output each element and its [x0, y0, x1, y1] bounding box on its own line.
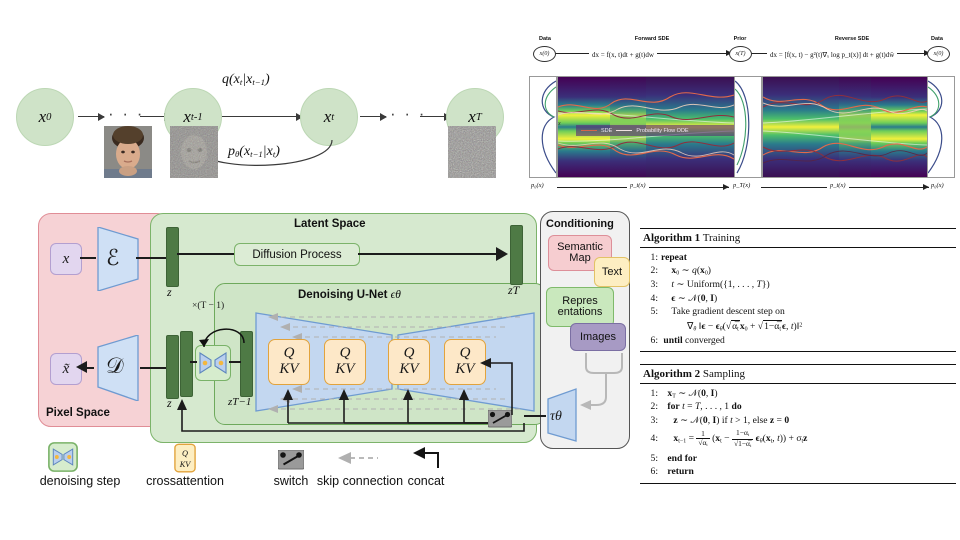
arrow-forward-q	[222, 116, 302, 117]
latent-label-z-top: z	[167, 285, 172, 300]
alg2-l5-num: 5:	[645, 452, 658, 466]
arrow-xt-to-ellipsis	[360, 116, 386, 117]
connector-denoise-to-zbar	[229, 361, 241, 363]
sde-caption-reverse: Reverse SDE	[797, 36, 907, 42]
algorithm-1-box: Algorithm 1 Training 1:repeat 2: x0 ∼ q(…	[640, 228, 956, 352]
alg2-line-3: 3: z ∼ 𝒩(0, I) if t > 1, else z = 0	[645, 414, 953, 428]
sde-bottom-label-pt-right: p_t(x)	[827, 182, 849, 189]
sde-legend-swatch-sde	[581, 130, 597, 132]
latent-label-zT-top: zT	[508, 283, 519, 298]
alg1-line-5: 5: Take gradient descent step on	[645, 305, 953, 319]
fw-q: q(	[222, 72, 234, 87]
sde-caption-data-left: Data	[529, 36, 561, 42]
sde-marginal-right	[927, 76, 955, 178]
latent-bar-z-top	[166, 227, 179, 287]
algorithm-2-body: 1: xT ∼ 𝒩(0, I) 2: for t = T, . . . , 1 …	[640, 384, 956, 483]
sde-legend-swatch-ode	[616, 130, 632, 132]
score-sde-figure: Data Forward SDE Prior Reverse SDE Data …	[527, 32, 955, 200]
latent-space-title: Latent Space	[294, 218, 366, 230]
unet-output-feedback-line	[172, 395, 532, 439]
thumbnail-noisy-face	[170, 126, 218, 178]
chip-text-label: Text	[602, 267, 622, 278]
unet-title-symbol: ϵθ	[391, 289, 401, 301]
alg2-line-4: 4: xt−1 = 1√αt (xt − 1−αt√1−α̅t ϵθ(xt, t…	[645, 429, 953, 450]
alg1-l7-num: 6:	[645, 334, 658, 348]
alg2-line-2: 2: for t = T, . . . , 1 do	[645, 400, 953, 414]
algorithm-2-name: Sampling	[703, 368, 745, 380]
chip-images-label: Images	[580, 332, 616, 343]
node-xt-sub: t	[331, 112, 334, 123]
unet-title-text: Denoising U-Net	[298, 289, 387, 301]
alg1-l4-num: 4:	[645, 292, 658, 306]
ldm-legend: denoising step Q KV crossattention switc…	[30, 442, 450, 500]
svg-text:KV: KV	[179, 460, 192, 469]
loop-count-label: ×(T − 1)	[192, 301, 224, 311]
loop-arrow	[192, 313, 258, 351]
latent-bar-z-bottom	[166, 335, 179, 399]
alg1-l5-text: Take gradient descent step on	[663, 306, 784, 317]
sde-caption-forward: Forward SDE	[597, 36, 707, 42]
sde-caption-data-right: Data	[921, 36, 953, 42]
node-x0: x0	[16, 88, 74, 146]
output-xtilde-label: x̃	[63, 361, 70, 378]
legend-icon-denoising-step	[48, 442, 78, 477]
ellipsis-right: · · ·	[390, 104, 426, 124]
domain-encoder-symbol: τθ	[550, 409, 562, 425]
alg2-l3-num: 3:	[645, 414, 658, 428]
input-x-label: x	[63, 251, 70, 268]
sde-marginal-prior	[734, 76, 762, 178]
chip-representations-label: Repres entations	[547, 296, 613, 318]
sde-state-xT-prior: x(T)	[729, 46, 752, 62]
sde-caption-prior: Prior	[722, 36, 758, 42]
rv-tprev: t−1	[250, 149, 263, 159]
ellipsis-left: · · ·	[108, 104, 144, 124]
zT-top-text: zT	[508, 283, 519, 297]
thumbnail-clean-face	[104, 126, 152, 178]
alg1-l1-num: 1:	[645, 251, 658, 265]
latent-label-z-bottom: z	[167, 396, 172, 411]
sde-forward-equation: dx = f(x, t)dt + g(t)dw	[589, 51, 657, 59]
alg2-line-6: 6: return	[645, 465, 953, 479]
node-xt-label: x	[324, 107, 332, 127]
unet-title: Denoising U-Net ϵθ	[298, 289, 401, 301]
node-xT-sub: T	[476, 112, 482, 123]
sde-legend: SDE Probability Flow ODE	[576, 125, 735, 136]
connector-x-to-encoder	[80, 257, 96, 259]
connector-zbar-to-denoise	[190, 361, 197, 363]
conditioning-branch-lines	[578, 351, 630, 419]
node-x0-sub: 0	[46, 112, 51, 123]
rv-close: )	[275, 144, 280, 159]
conditioning-chip-text: Text	[594, 257, 630, 287]
reverse-process-label: pθ(xt−1|xt)	[228, 144, 280, 160]
legend-icon-concat	[410, 446, 444, 475]
alg2-l6-num: 6:	[645, 465, 658, 479]
algorithm-1-name: Training	[703, 232, 741, 244]
conditioning-chip-images: Images	[570, 323, 626, 351]
alg1-line-1: 1:repeat	[645, 251, 953, 265]
sde-legend-label-sde: SDE	[601, 128, 612, 134]
alg1-l3-num: 3:	[645, 278, 658, 292]
sde-legend-label-ode: Probability Flow ODE	[636, 128, 688, 134]
algorithm-2-header: Algorithm 2 Sampling	[640, 365, 956, 383]
encoder-symbol: ℰ	[106, 245, 119, 271]
diffusion-process-label: Diffusion Process	[252, 249, 341, 261]
markov-chain-diagram: x0 · · · xt-1 xt · · · xT q(xt|xt−1) pθ(…	[0, 40, 520, 205]
conditioning-chip-representations: Repres entations	[546, 287, 614, 327]
conditioning-title: Conditioning	[546, 218, 614, 230]
alg1-line-6-formula: ∇θ ‖ϵ − ϵθ(√α̅tx0 + √1−α̅tϵ, t)‖2	[645, 320, 953, 334]
node-xT-label: x	[468, 107, 476, 127]
alg1-l1-kw: repeat	[661, 252, 687, 263]
alg2-line-1: 1: xT ∼ 𝒩(0, I)	[645, 387, 953, 401]
algorithm-1-header: Algorithm 1 Training	[640, 229, 956, 247]
sde-bottom-label-p0-right: p₀(x)	[931, 182, 944, 189]
arrow-x0-to-ellipsis	[78, 116, 104, 117]
thumbnail-pure-noise	[448, 126, 496, 178]
alg1-line-4: 4: ϵ ∼ 𝒩(0, I)	[645, 292, 953, 306]
connector-encoder-to-z	[136, 257, 170, 259]
alg1-line-2: 2: x0 ∼ q(x0)	[645, 264, 953, 278]
sde-reverse-heatmap	[762, 76, 928, 178]
alg2-line-5: 5: end for	[645, 452, 953, 466]
algorithm-1-body: 1:repeat 2: x0 ∼ q(x0) 3: t ∼ Uniform({1…	[640, 248, 956, 352]
alg2-l1-num: 1:	[645, 387, 658, 401]
alg1-line-3: 3: t ∼ Uniform({1, . . . , T})	[645, 278, 953, 292]
alg1-l2-num: 2:	[645, 264, 658, 278]
alg1-l7-kw: until	[663, 335, 682, 346]
sde-state-x0-left: x(0)	[533, 46, 556, 62]
rv-p: p	[228, 144, 235, 159]
legend-icon-switch	[278, 450, 304, 475]
node-x0-label: x	[39, 107, 47, 127]
forward-process-label: q(xt|xt−1)	[222, 72, 270, 88]
legend-label-concat: concat	[386, 474, 466, 488]
legend-icon-skip-connection	[336, 450, 380, 471]
fw-close: )	[265, 72, 270, 87]
fw-tprev: t−1	[252, 77, 265, 87]
arrow-diffusion-to-zT	[494, 246, 510, 262]
sde-bottom-label-pT: p_T(x)	[733, 182, 750, 189]
input-x-box: x	[50, 243, 82, 275]
node-xt1-sub: t-1	[191, 112, 203, 123]
connector-diffusion-to-zT	[358, 253, 498, 255]
algorithm-2-box: Algorithm 2 Sampling 1: xT ∼ 𝒩(0, I) 2: …	[640, 364, 956, 484]
alg1-l5-num: 5:	[645, 305, 658, 319]
algorithm-1-number: Algorithm 1	[643, 232, 700, 244]
alg2-l2-num: 2:	[645, 400, 658, 414]
decoder-symbol: 𝒟	[106, 353, 124, 379]
algorithm-boxes: Algorithm 1 Training 1:repeat 2: x0 ∼ q(…	[640, 228, 956, 486]
latent-bar-zT-top	[510, 225, 523, 285]
alg2-l4-num: 4:	[645, 432, 658, 446]
algorithm-2-number: Algorithm 2	[643, 368, 700, 380]
sde-y-axis-label: x	[558, 121, 561, 127]
node-xt1-label: x	[183, 107, 191, 127]
alg2-l6-kw: return	[667, 466, 693, 477]
alg2-l5-kw: end for	[663, 453, 697, 464]
sde-bottom-label-p0-left: p₀(x)	[531, 182, 544, 189]
connector-z-to-diffusion	[177, 253, 237, 255]
legend-label-crossattention: crossattention	[120, 474, 250, 488]
diffusion-process-box: Diffusion Process	[234, 243, 360, 266]
sde-bottom-label-pt-left: p_t(x)	[627, 182, 649, 189]
alg1-line-7: 6: until converged	[645, 334, 953, 348]
sde-forward-heatmap: SDE Probability Flow ODE x	[557, 76, 735, 178]
sde-marginal-left	[529, 76, 557, 178]
legend-icon-crossattention: Q KV	[174, 443, 196, 478]
svg-text:Q: Q	[182, 449, 188, 458]
pixel-space-title: Pixel Space	[46, 407, 110, 419]
arrow-to-xtilde	[76, 360, 90, 374]
sde-reverse-equation: dx = [f(x, t) − g²(t)∇ₓ log p_t(x)] dt +…	[767, 51, 897, 59]
sde-state-x0-right: x(0)	[927, 46, 950, 62]
